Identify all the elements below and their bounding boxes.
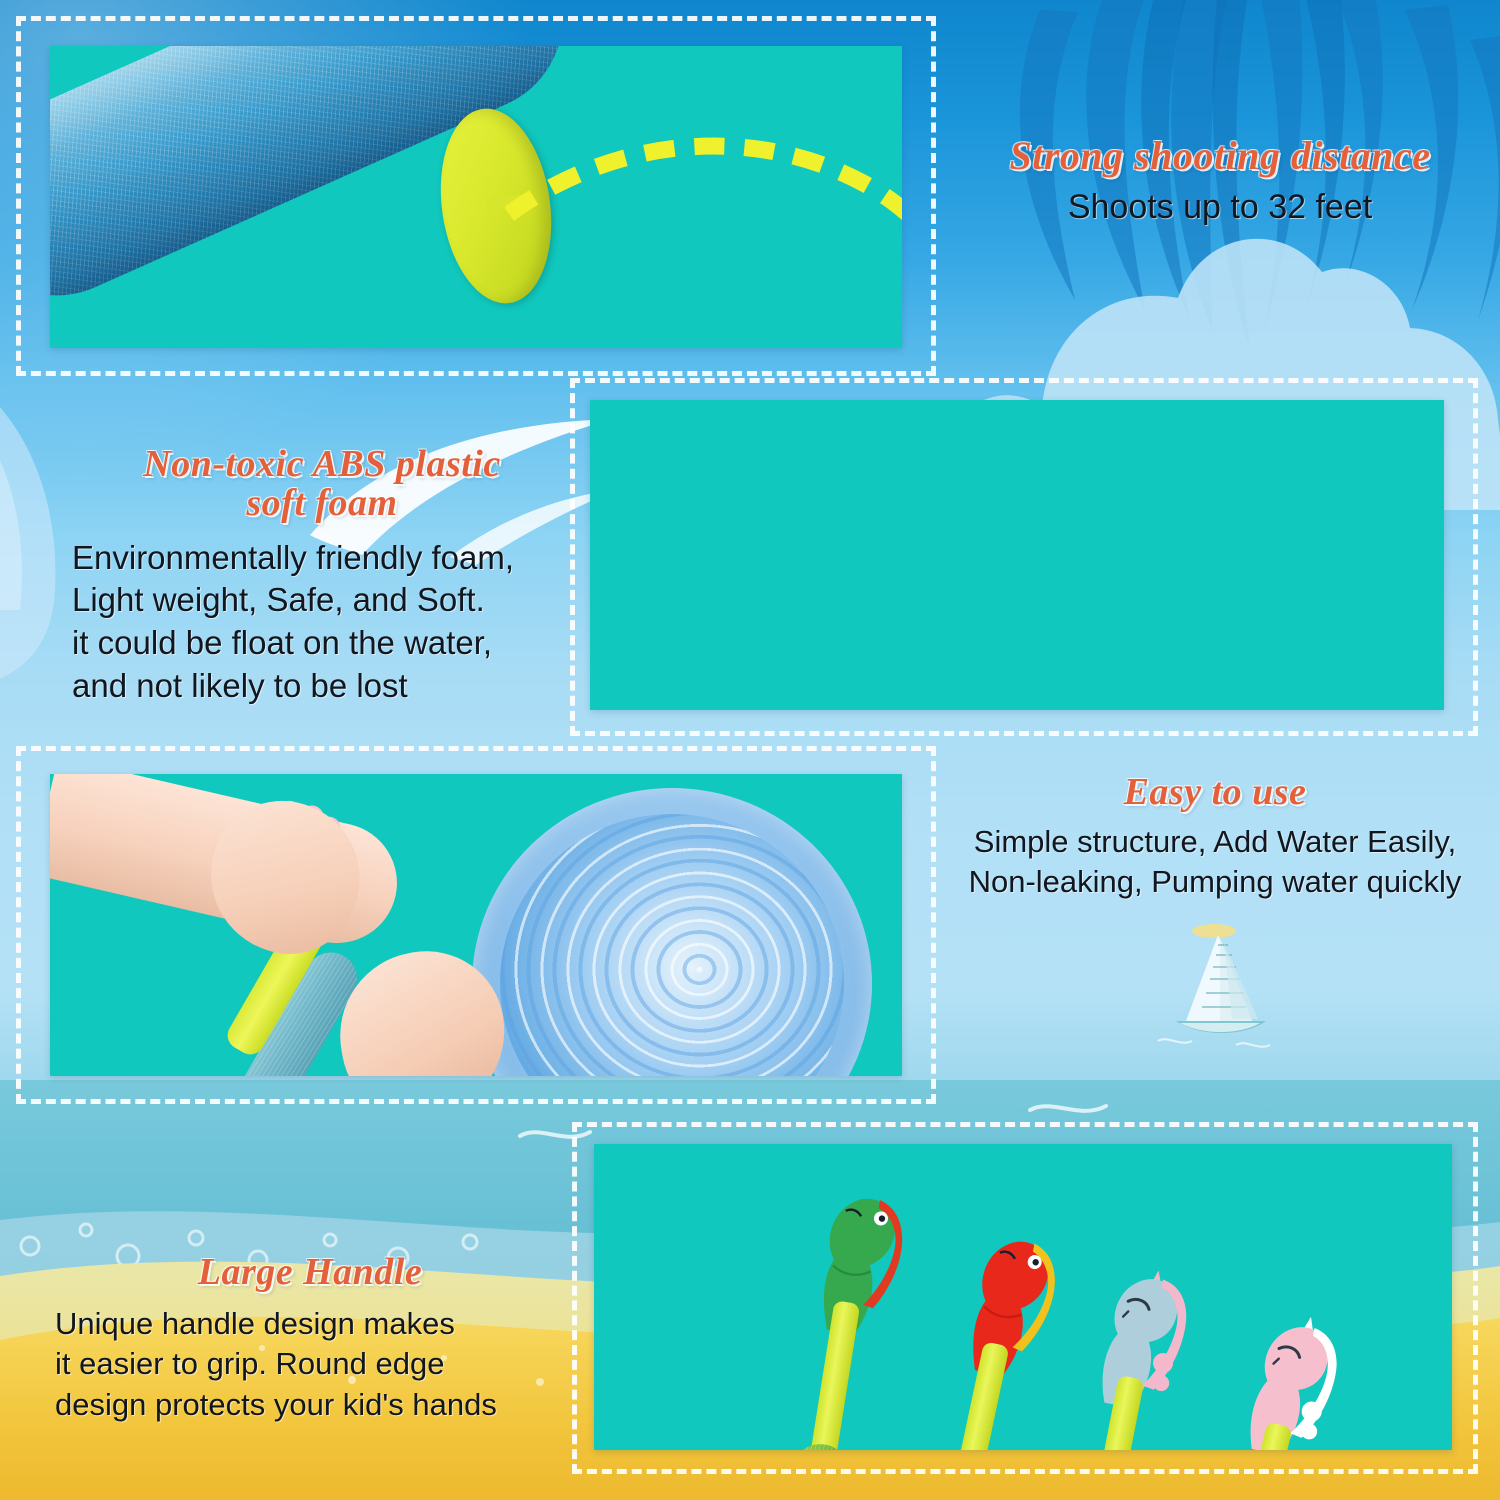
feature-photo-panel-easy-to-use (16, 746, 936, 1104)
headline-line-2: soft foam (72, 484, 572, 523)
headline-line-1: Non-toxic ABS plastic (72, 445, 572, 484)
toy-green-dinosaur (765, 1177, 921, 1450)
body-line: Light weight, Safe, and Soft. (72, 579, 572, 622)
body-line: design protects your kid's hands (55, 1385, 565, 1425)
body-line: Unique handle design makes (55, 1304, 565, 1344)
toy-red-dinosaur (905, 1217, 1075, 1450)
feature-text-large-handle: Large Handle Unique handle design makes … (55, 1250, 565, 1425)
feature-photo-panel-large-handle (572, 1122, 1478, 1474)
green-foam-barrel (760, 1440, 853, 1450)
foam-texture-tube (590, 400, 1444, 710)
feature-body: Unique handle design makes it easier to … (55, 1304, 565, 1425)
toy-pink-unicorn (1185, 1297, 1360, 1450)
body-line: Environmentally friendly foam, (72, 537, 572, 580)
feature-headline: Non-toxic ABS plastic soft foam (72, 445, 572, 523)
product-photo-foam-closeup (590, 400, 1444, 710)
product-photo-noodle-nozzle (50, 46, 902, 348)
feature-body: Shoots up to 32 feet (945, 185, 1495, 229)
body-line: it easier to grip. Round edge (55, 1344, 565, 1384)
feature-text-shooting-distance: Strong shooting distance Shoots up to 32… (945, 132, 1495, 229)
body-line: it could be float on the water, (72, 622, 572, 665)
feature-photo-panel-shooting-distance (16, 16, 936, 376)
feature-text-easy-to-use: Easy to use Simple structure, Add Water … (935, 770, 1495, 903)
sailboat-icon (1140, 915, 1290, 1055)
feature-photo-panel-foam-texture (570, 378, 1478, 736)
body-line: Simple structure, Add Water Easily, (935, 822, 1495, 862)
feature-headline: Strong shooting distance (945, 132, 1495, 179)
body-line: Non-leaking, Pumping water quickly (935, 862, 1495, 902)
body-line: and not likely to be lost (72, 665, 572, 708)
toy-blue-unicorn (1043, 1251, 1208, 1450)
product-photo-hand-filling-water (50, 774, 902, 1076)
unicorn-head-icon (1228, 1299, 1351, 1450)
water-trajectory-dashed-arc (505, 106, 902, 336)
feature-headline: Large Handle (55, 1250, 565, 1294)
feature-text-non-toxic-foam: Non-toxic ABS plastic soft foam Environm… (72, 445, 572, 708)
feature-body: Simple structure, Add Water Easily, Non-… (935, 822, 1495, 903)
feature-body: Environmentally friendly foam, Light wei… (72, 537, 572, 709)
product-photo-four-toys (594, 1144, 1452, 1450)
infographic-canvas: Strong shooting distance Shoots up to 32… (0, 0, 1500, 1500)
feature-headline: Easy to use (935, 770, 1495, 814)
